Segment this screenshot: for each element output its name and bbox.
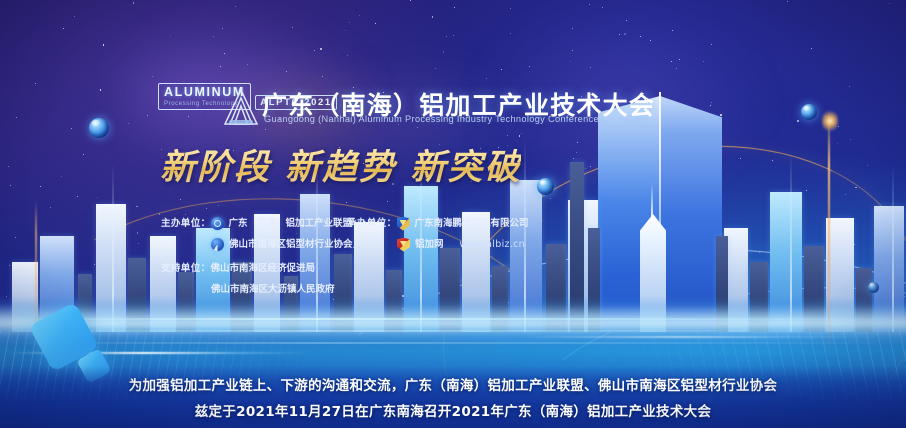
host-row-2: 佛山市南海区铝型材行业协会 bbox=[161, 234, 353, 255]
conference-poster: ALUMINUM Processing Technology ALPTC 202… bbox=[0, 0, 906, 428]
banner-line-2: 兹定于2021年11月27日在广东南海召开2021年广东（南海）铝加工产业技术大… bbox=[0, 400, 906, 420]
spire-antenna bbox=[651, 182, 653, 220]
supporter-row-2: 佛山市南海区大沥镇人民政府 bbox=[161, 279, 335, 300]
undertaker-organizer-block: 承办单位： 广东南海鹏博资讯有限公司 铝加网 www.albiz.cn bbox=[347, 213, 529, 255]
aluminum-a-monogram-icon bbox=[221, 86, 261, 128]
undertaker-row-1: 承办单位： 广东南海鹏博资讯有限公司 bbox=[347, 213, 529, 234]
triangle-mark-icon bbox=[211, 238, 224, 251]
undertaker-name-1: 广东南海鹏博资讯有限公司 bbox=[415, 213, 529, 234]
supporter-name-1: 佛山市南海区经济促进局 bbox=[211, 258, 316, 279]
host-row-1: 主办单位： 广东（南海）铝加工产业联盟 bbox=[161, 213, 353, 234]
ring-mark-icon bbox=[211, 217, 224, 230]
horizon-line-1 bbox=[0, 318, 906, 320]
undertaker-website-link[interactable]: www.albiz.cn bbox=[460, 234, 525, 255]
shield-blue-icon bbox=[397, 217, 410, 231]
host-name-1: 广东（南海）铝加工产业联盟 bbox=[229, 213, 353, 234]
supporter-label: 支持单位： bbox=[161, 258, 211, 279]
undertaker-label: 承办单位： bbox=[347, 213, 397, 234]
supporter-name-2: 佛山市南海区大沥镇人民政府 bbox=[211, 279, 335, 300]
host-label: 主办单位： bbox=[161, 213, 211, 234]
host-organizer-block: 主办单位： 广东（南海）铝加工产业联盟 佛山市南海区铝型材行业协会 bbox=[161, 213, 353, 255]
undertaker-name-2: 铝加网 bbox=[415, 234, 444, 255]
supporter-organizer-block: 支持单位： 佛山市南海区经济促进局 佛山市南海区大沥镇人民政府 bbox=[161, 258, 335, 300]
banner-line-1: 为加强铝加工产业链上、下游的沟通和交流，广东（南海）铝加工产业联盟、佛山市南海区… bbox=[0, 374, 906, 394]
host-name-2: 佛山市南海区铝型材行业协会 bbox=[229, 234, 353, 255]
page-subtitle-en: Guangdong (Nanhai) Aluminum Processing I… bbox=[264, 114, 599, 124]
shield-red-icon bbox=[397, 238, 410, 252]
headline-slogan: 新阶段 新趋势 新突破 bbox=[160, 139, 521, 190]
orange-streak-head-right bbox=[822, 108, 838, 134]
supporter-row-1: 支持单位： 佛山市南海区经济促进局 bbox=[161, 258, 335, 279]
undertaker-row-2: 铝加网 www.albiz.cn bbox=[347, 234, 529, 255]
